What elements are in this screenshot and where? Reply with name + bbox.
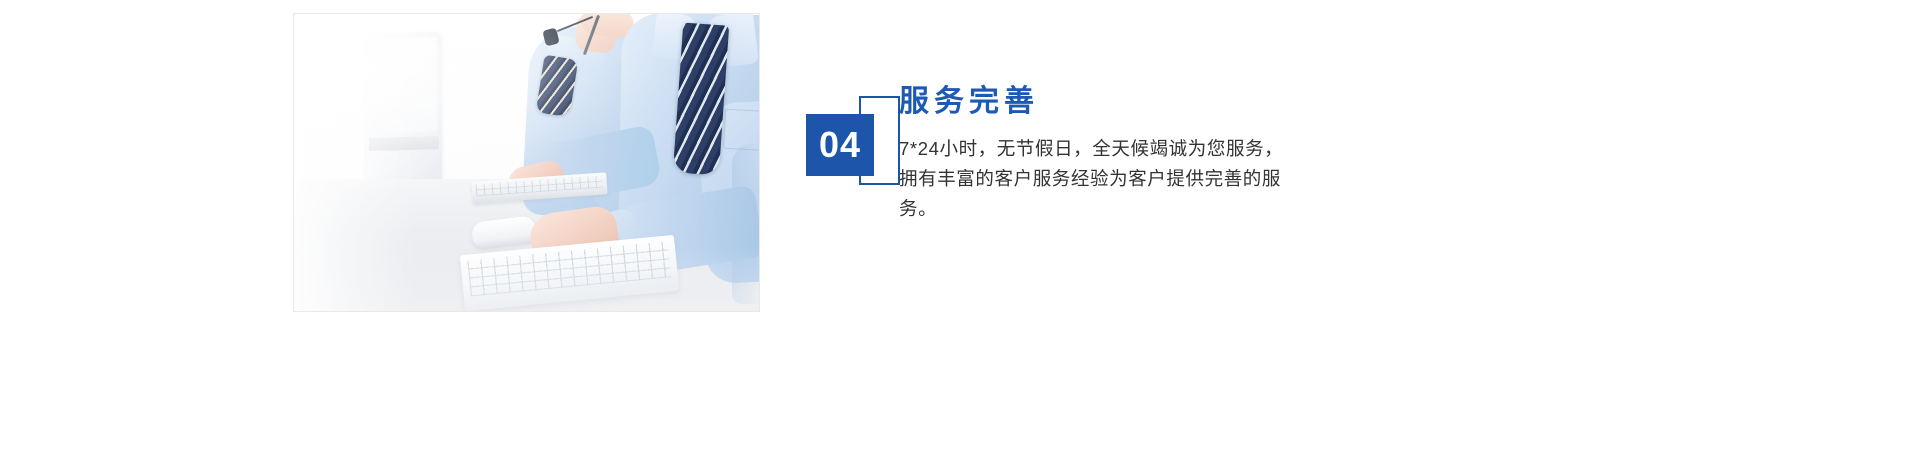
badge-number: 04 — [819, 127, 861, 163]
monitor-screen — [371, 37, 437, 133]
feature-content: 04 服务完善 7*24小时，无节假日，全天候竭诚为您服务，拥有丰富的客户服务经… — [806, 84, 1506, 264]
step-badge: 04 — [806, 96, 902, 188]
feature-text-column: 服务完善 7*24小时，无节假日，全天候竭诚为您服务，拥有丰富的客户服务经验为客… — [899, 84, 1329, 224]
service-photo — [294, 14, 759, 311]
service-photo-frame — [293, 13, 760, 312]
service-feature-banner: 04 服务完善 7*24小时，无节假日，全天候竭诚为您服务，拥有丰富的客户服务经… — [0, 0, 1920, 452]
imac-monitor-icon — [366, 32, 442, 192]
badge-filled-square: 04 — [806, 114, 874, 176]
monitor-chin — [369, 136, 439, 151]
feature-description: 7*24小时，无节假日，全天候竭诚为您服务，拥有丰富的客户服务经验为客户提供完善… — [899, 134, 1293, 224]
feature-title: 服务完善 — [899, 84, 1329, 120]
